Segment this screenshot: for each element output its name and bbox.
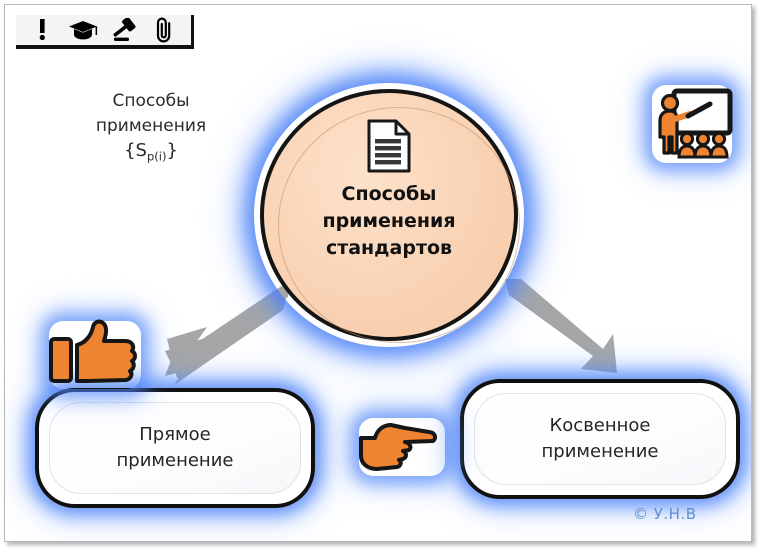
box-indirect-line-2: применение (542, 439, 659, 465)
teacher-presentation-icon (648, 81, 736, 167)
thumbs-up-icon (47, 319, 143, 391)
pointing-hand-icon (357, 416, 447, 478)
spellcheck-squiggle-icon (136, 163, 170, 168)
box-indirect-line-1: Косвенное (542, 413, 659, 439)
caption-formula: {Sp(i)} (124, 138, 178, 165)
box-direct-line-1: Прямое (117, 422, 234, 448)
formula-open: {S (124, 140, 147, 161)
slide-frame: Способы применения {Sp(i)} (4, 4, 752, 542)
caption-block: Способы применения {Sp(i)} (51, 89, 251, 166)
toolbar (16, 15, 194, 49)
caption-line-1: Способы (51, 89, 251, 114)
box-direct-label: Прямое применение (117, 422, 234, 474)
document-icon (366, 119, 412, 173)
exclamation-icon[interactable] (27, 17, 57, 43)
central-node-circle[interactable]: Способы применения стандартов (260, 89, 518, 341)
central-node[interactable]: Способы применения стандартов (254, 83, 524, 347)
graduation-cap-icon[interactable] (68, 17, 98, 43)
box-direct-outer[interactable]: Прямое применение (35, 388, 315, 508)
gavel-icon[interactable] (109, 17, 139, 43)
box-indirect-outer[interactable]: Косвенное применение (460, 379, 740, 499)
central-title-line-2: применения (322, 208, 455, 235)
copyright-label: © У.Н.В (633, 505, 697, 523)
box-indirect-application[interactable]: Косвенное применение (460, 379, 740, 499)
formula-close: } (166, 140, 177, 161)
paperclip-icon[interactable] (150, 17, 180, 43)
central-title-line-1: Способы (322, 181, 455, 208)
box-direct-application[interactable]: Прямое применение (35, 388, 315, 508)
central-title-line-3: стандартов (322, 235, 455, 262)
central-node-title: Способы применения стандартов (322, 181, 455, 262)
box-direct-line-2: применение (117, 448, 234, 474)
caption-line-2: применения (51, 114, 251, 139)
box-indirect-label: Косвенное применение (542, 413, 659, 465)
box-indirect-inner: Косвенное применение (474, 393, 726, 485)
box-direct-inner: Прямое применение (49, 402, 301, 494)
